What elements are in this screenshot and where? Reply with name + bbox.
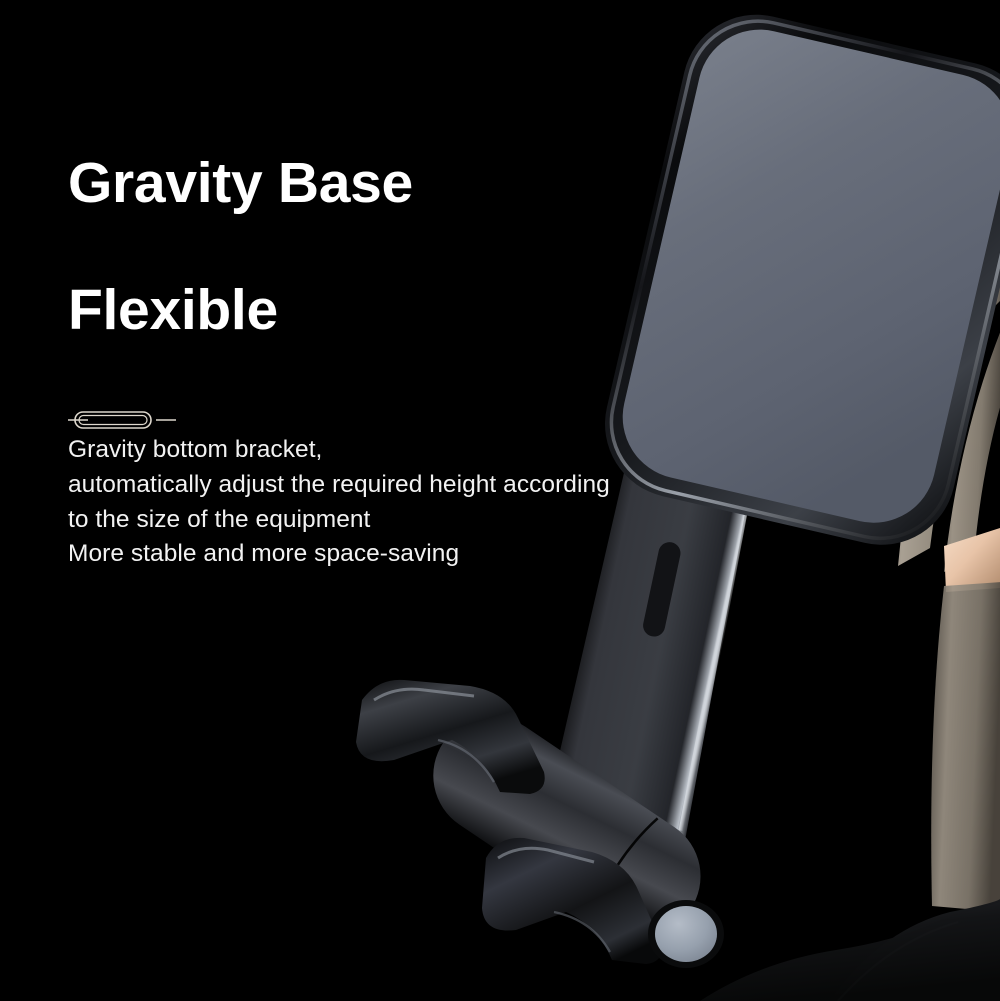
- headline-line-1: Gravity Base: [68, 152, 668, 216]
- marketing-copy-panel: Gravity Base Flexible Gravity bottom bra…: [68, 88, 668, 572]
- description-line-2: automatically adjust the required height…: [68, 468, 668, 503]
- page-title: Gravity Base Flexible: [68, 88, 668, 407]
- headline-line-2: Flexible: [68, 279, 668, 343]
- divider: [68, 406, 268, 434]
- description-line-3: to the size of the equipment: [68, 503, 668, 538]
- description-text: Gravity bottom bracket, automatically ad…: [68, 433, 668, 572]
- description-line-4: More stable and more space-saving: [68, 537, 668, 572]
- metal-band-lower-stem: [931, 582, 1000, 912]
- description-line-1: Gravity bottom bracket,: [68, 433, 668, 468]
- base-sweep: [700, 902, 1000, 1001]
- capsule-divider-icon: [68, 406, 268, 434]
- barrel-end-cap: [648, 900, 724, 968]
- product-marketing-banner: Gravity Base Flexible Gravity bottom bra…: [0, 0, 1000, 1001]
